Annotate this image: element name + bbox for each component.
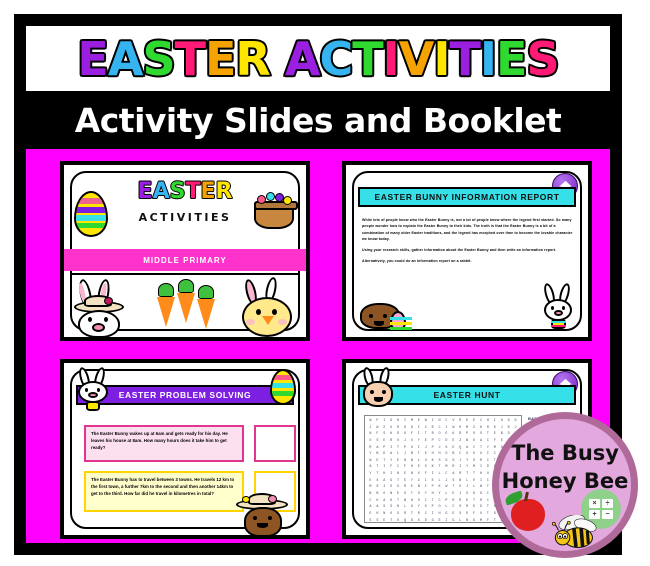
word-search-letter: S [457, 504, 464, 511]
word-search-letter: X [422, 504, 429, 511]
word-search-letter: A [388, 451, 395, 458]
word-search-letter: W [443, 484, 450, 491]
word-search-letter: T [374, 471, 381, 478]
word-search-letter: F [471, 511, 478, 518]
word-search-letter: V [450, 418, 457, 425]
word-search-letter: C [450, 504, 457, 511]
title-letter: E [496, 32, 526, 86]
word-search-letter: R [464, 504, 471, 511]
word-search-letter: E [450, 491, 457, 498]
word-search-letter: C [443, 418, 450, 425]
word-search-letter: I [381, 418, 388, 425]
calculator-key: × [589, 499, 600, 508]
word-search-letter: Y [415, 504, 422, 511]
word-search-letter: R [484, 425, 491, 432]
word-search-letter: T [471, 471, 478, 478]
word-search-letter: E [381, 518, 388, 523]
word-search-letter: O [471, 438, 478, 445]
word-search-letter: G [471, 491, 478, 498]
word-search-letter: W [478, 484, 485, 491]
word-search-letter: G [450, 458, 457, 465]
word-search-letter: T [395, 478, 402, 485]
title-letter: S [526, 32, 558, 86]
brand-logo-badge: The Busy Honey Bee ×÷+− [492, 412, 638, 558]
word-search-letter: H [429, 451, 436, 458]
word-search-letter: G [512, 418, 519, 425]
word-search-letter: C [367, 498, 374, 505]
word-search-letter: U [484, 471, 491, 478]
word-search-letter: B [450, 451, 457, 458]
word-search-letter: O [443, 451, 450, 458]
word-search-letter: G [402, 425, 409, 432]
word-search-letter: C [484, 478, 491, 485]
word-search-letter: I [415, 425, 422, 432]
slide-preview-cover[interactable]: EASTER ACTIVITIES MIDDLE PRIMARY [60, 161, 310, 341]
word-search-letter: E [464, 418, 471, 425]
word-search-letter: P [402, 445, 409, 452]
title-letter: V [399, 32, 434, 86]
word-search-letter: I [491, 418, 498, 425]
word-search-letter: L [464, 478, 471, 485]
word-search-letter: I [388, 445, 395, 452]
word-search-letter: C [422, 425, 429, 432]
word-search-letter: N [464, 518, 471, 523]
word-search-letter: K [491, 425, 498, 432]
word-search-letter: T [395, 445, 402, 452]
word-search-letter: Q [402, 518, 409, 523]
word-search-letter: U [388, 425, 395, 432]
word-search-letter: D [464, 511, 471, 518]
title-letter: T [175, 32, 205, 86]
word-search-letter: M [464, 425, 471, 432]
word-search-letter: S [478, 431, 485, 438]
word-search-letter: E [450, 511, 457, 518]
word-search-letter: O [402, 491, 409, 498]
word-search-letter: T [484, 484, 491, 491]
slide-header-label: EASTER HUNT [433, 390, 500, 400]
word-search-letter: U [408, 445, 415, 452]
word-search-letter: A [374, 445, 381, 452]
title-letter: I [433, 32, 449, 86]
word-search-letter: Y [415, 438, 422, 445]
word-search-letter: O [436, 431, 443, 438]
easter-egg-icon [390, 311, 406, 331]
word-search-letter: F [374, 418, 381, 425]
word-search-letter: B [498, 431, 505, 438]
calculator-key: − [602, 510, 613, 519]
word-search-letter: A [478, 438, 485, 445]
word-search-letter: C [422, 511, 429, 518]
title-letter: E [77, 32, 107, 86]
word-search-letter: F [402, 464, 409, 471]
word-search-letter: S [381, 431, 388, 438]
word-search-letter: O [415, 491, 422, 498]
word-search-letter: T [478, 445, 485, 452]
word-search-letter: N [436, 418, 443, 425]
slide-header-bar: EASTER BUNNY INFORMATION REPORT [358, 187, 576, 207]
poster-subtitle: Activity Slides and Booklet [75, 101, 562, 140]
word-search-letter: I [381, 464, 388, 471]
word-search-letter: C [471, 445, 478, 452]
word-search-letter: E [429, 478, 436, 485]
title-letter: A [285, 32, 320, 86]
word-search-letter: E [374, 458, 381, 465]
word-search-letter: O [464, 451, 471, 458]
word-search-letter: W [367, 418, 374, 425]
word-search-letter: C [478, 418, 485, 425]
title-letter: I [480, 32, 496, 86]
slide-header-label: EASTER PROBLEM SOLVING [119, 390, 252, 400]
word-search-letter: N [408, 471, 415, 478]
word-search-letter: R [429, 431, 436, 438]
word-search-letter: R [457, 471, 464, 478]
report-paragraph: Alternatively, you could do an informati… [362, 258, 574, 264]
word-search-letter: F [408, 431, 415, 438]
word-search-letter: L [436, 471, 443, 478]
word-search-letter: X [471, 451, 478, 458]
word-search-letter: N [402, 458, 409, 465]
child-with-easter-bonnet-icon [234, 493, 290, 535]
word-search-letter: S [395, 511, 402, 518]
word-search-letter: L [402, 504, 409, 511]
easter-egg-icon [270, 369, 296, 405]
word-search-letter: S [374, 438, 381, 445]
word-search-letter: A [367, 464, 374, 471]
title-letter: E [205, 32, 235, 86]
word-search-letter: H [388, 431, 395, 438]
word-search-letter: D [443, 438, 450, 445]
word-search-letter: G [408, 504, 415, 511]
word-search-letter: E [395, 458, 402, 465]
word-search-letter: P [443, 498, 450, 505]
word-search-letter: R [457, 418, 464, 425]
word-search-letter: Y [484, 445, 491, 452]
word-search-letter: Y [367, 471, 374, 478]
word-search-letter: C [443, 471, 450, 478]
word-search-letter: M [408, 418, 415, 425]
word-search-letter: E [367, 511, 374, 518]
word-search-letter: P [429, 438, 436, 445]
word-search-letter: P [464, 431, 471, 438]
word-search-letter: X [415, 471, 422, 478]
word-search-letter: S [367, 518, 374, 523]
word-search-letter: X [402, 431, 409, 438]
word-search-letter: W [374, 425, 381, 432]
word-search-letter: N [457, 478, 464, 485]
word-search-letter: T [464, 471, 471, 478]
word-search-letter: P [381, 445, 388, 452]
title-letter: A [153, 179, 170, 204]
word-search-letter: S [464, 491, 471, 498]
word-search-letter: I [415, 445, 422, 452]
word-search-letter: T [395, 498, 402, 505]
word-search-letter: N [388, 491, 395, 498]
problem-text: The Easter Bunny has to travel between 3… [91, 477, 234, 496]
word-search-letter: I [402, 418, 409, 425]
word-search-letter: R [402, 484, 409, 491]
word-search-letter: U [478, 451, 485, 458]
word-search-letter: X [422, 464, 429, 471]
report-body: While lots of people know who the Easter… [362, 217, 574, 270]
word-search-letter: I [415, 431, 422, 438]
word-search-letter: U [408, 438, 415, 445]
word-search-letter: O [388, 511, 395, 518]
word-search-letter: O [436, 504, 443, 511]
word-search-letter: G [443, 511, 450, 518]
word-search-letter: H [436, 451, 443, 458]
word-search-letter: J [443, 478, 450, 485]
word-search-letter: R [367, 445, 374, 452]
word-search-letter: L [443, 504, 450, 511]
word-search-letter: E [422, 438, 429, 445]
word-search-letter: A [381, 478, 388, 485]
word-search-letter: B [408, 451, 415, 458]
title-letter: T [449, 32, 479, 86]
word-search-letter: H [484, 418, 491, 425]
word-search-letter: E [408, 484, 415, 491]
word-search-letter: I [429, 511, 436, 518]
word-search-letter: E [422, 451, 429, 458]
word-search-letter: I [457, 464, 464, 471]
word-search-letter: R [505, 425, 512, 432]
word-search-letter: B [374, 451, 381, 458]
word-search-letter: E [471, 418, 478, 425]
bee-icon [551, 515, 603, 549]
word-search-letter: K [478, 425, 485, 432]
slide-preview-information-report[interactable]: EASTER BUNNY INFORMATION REPORT While lo… [342, 161, 592, 341]
word-search-letter: U [422, 458, 429, 465]
word-search-letter: F [388, 464, 395, 471]
page-title: EASTER ACTIVITIES [77, 32, 558, 86]
word-search-letter: T [422, 431, 429, 438]
problem-text: The Easter Bunny wakes up at 6am and get… [91, 431, 228, 450]
word-search-letter: W [450, 425, 457, 432]
word-search-letter: H [408, 464, 415, 471]
word-search-letter: A [450, 471, 457, 478]
word-search-letter: Y [388, 458, 395, 465]
word-search-letter: T [415, 451, 422, 458]
title-letter: A [108, 32, 143, 86]
cover-title-area: EASTER ACTIVITIES [72, 173, 298, 253]
problem-answer-box[interactable] [254, 425, 296, 462]
word-search-letter: E [450, 438, 457, 445]
word-search-letter: R [429, 425, 436, 432]
word-search-letter: C [484, 491, 491, 498]
word-search-letter: T [484, 511, 491, 518]
word-search-letter: E [464, 498, 471, 505]
word-search-letter: H [374, 498, 381, 505]
word-search-letter: K [436, 484, 443, 491]
word-search-letter: I [484, 451, 491, 458]
word-search-letter: I [422, 478, 429, 485]
word-search-letter: F [491, 438, 498, 445]
word-search-letter: J [402, 438, 409, 445]
word-search-letter: L [471, 484, 478, 491]
word-search-letter: M [491, 445, 498, 452]
word-search-letter: O [395, 518, 402, 523]
word-search-letter: C [484, 438, 491, 445]
word-search-letter: Y [464, 458, 471, 465]
problem-card: The Easter Bunny has to travel between 3… [84, 471, 244, 512]
word-search-letter: R [450, 498, 457, 505]
word-search-letter: G [498, 418, 505, 425]
word-search-letter: J [498, 425, 505, 432]
calculator-key: ÷ [602, 499, 613, 508]
word-search-letter: J [457, 458, 464, 465]
bunny-icon [74, 367, 116, 417]
word-search-letter: T [388, 518, 395, 523]
word-search-letter: S [395, 484, 402, 491]
word-search-letter: E [415, 464, 422, 471]
word-search-letter: L [436, 478, 443, 485]
cover-level-label: MIDDLE PRIMARY [143, 256, 226, 265]
word-search-letter: Q [457, 445, 464, 452]
word-search-letter: S [381, 504, 388, 511]
word-search-letter: C [395, 464, 402, 471]
word-search-letter: X [415, 518, 422, 523]
word-search-letter: O [367, 438, 374, 445]
title-letter: C [319, 32, 352, 86]
word-search-letter: J [402, 451, 409, 458]
word-search-letter: R [457, 498, 464, 505]
word-search-letter: D [381, 451, 388, 458]
word-search-letter: F [484, 518, 491, 523]
word-search-letter: U [478, 511, 485, 518]
word-search-letter: I [422, 484, 429, 491]
title-letter: I [383, 32, 399, 86]
poster-title-band: EASTER ACTIVITIES [26, 26, 610, 91]
word-search-letter: G [408, 425, 415, 432]
brand-name-line2: Honey Bee [499, 469, 631, 493]
word-search-letter: I [478, 464, 485, 471]
word-search-letter: G [478, 491, 485, 498]
word-search-letter: H [457, 425, 464, 432]
word-search-letter: E [367, 478, 374, 485]
word-search-letter: O [388, 484, 395, 491]
word-search-letter: E [395, 491, 402, 498]
word-search-letter: L [457, 518, 464, 523]
word-search-letter: R [402, 511, 409, 518]
slide-preview-problem-solving[interactable]: EASTER PROBLEM SOLVING The Easter Bunny … [60, 359, 310, 539]
word-search-letter: R [450, 464, 457, 471]
word-search-letter: D [471, 504, 478, 511]
word-search-letter: I [422, 498, 429, 505]
word-search-letter: F [422, 471, 429, 478]
word-search-letter: B [367, 491, 374, 498]
word-search-letter: Z [457, 438, 464, 445]
word-search-letter: N [381, 511, 388, 518]
word-search-letter: T [381, 458, 388, 465]
word-search-letter: S [443, 445, 450, 452]
word-search-letter: L [415, 458, 422, 465]
word-search-letter: Y [464, 464, 471, 471]
word-search-letter: R [415, 511, 422, 518]
word-search-letter: A [367, 504, 374, 511]
title-letter: E [200, 179, 215, 204]
word-search-letter: F [374, 431, 381, 438]
word-search-letter: Y [408, 478, 415, 485]
word-search-letter: K [388, 498, 395, 505]
title-letter: T [352, 32, 382, 86]
word-search-letter: A [374, 504, 381, 511]
word-search-letter: P [429, 445, 436, 452]
word-search-letter: I [443, 518, 450, 523]
word-search-letter: D [422, 518, 429, 523]
title-letter: T [185, 179, 200, 204]
word-search-letter: D [408, 518, 415, 523]
word-search-letter: E [402, 478, 409, 485]
word-search-letter: L [395, 451, 402, 458]
word-search-letter: C [436, 498, 443, 505]
word-search-letter: R [478, 458, 485, 465]
word-search-letter: I [381, 484, 388, 491]
brand-name-line1: The Busy [499, 441, 631, 465]
word-search-letter: D [484, 464, 491, 471]
word-search-letter: G [471, 518, 478, 523]
report-paragraph: While lots of people know who the Easter… [362, 217, 574, 242]
word-search-letter: H [436, 511, 443, 518]
cover-divider [72, 273, 298, 275]
word-search-letter: G [443, 458, 450, 465]
title-letter: R [235, 32, 269, 86]
word-search-letter: I [429, 418, 436, 425]
word-search-letter: I [443, 425, 450, 432]
word-search-letter: T [484, 504, 491, 511]
word-search-letter: N [395, 471, 402, 478]
word-search-letter: M [443, 464, 450, 471]
word-search-letter: E [415, 418, 422, 425]
word-search-letter: G [388, 418, 395, 425]
word-search-letter: E [402, 471, 409, 478]
word-search-letter: G [429, 518, 436, 523]
word-search-letter: R [388, 438, 395, 445]
word-search-letter: J [436, 445, 443, 452]
word-search-letter: D [395, 431, 402, 438]
bunny-child-icon [358, 367, 402, 415]
cover-subtitle: ACTIVITIES [139, 211, 232, 224]
word-search-letter: O [395, 438, 402, 445]
poster-subtitle-band: Activity Slides and Booklet [26, 91, 610, 149]
word-search-letter: O [457, 484, 464, 491]
word-search-letter: H [429, 491, 436, 498]
word-search-letter: T [374, 464, 381, 471]
title-letter: R [216, 179, 233, 204]
word-search-letter: R [478, 498, 485, 505]
word-search-letter: I [484, 458, 491, 465]
word-search-letter: B [415, 484, 422, 491]
word-search-letter: V [471, 478, 478, 485]
word-search-letter: H [395, 418, 402, 425]
slide-header-label: EASTER BUNNY INFORMATION REPORT [375, 192, 560, 202]
word-search-letter: S [450, 478, 457, 485]
apple-icon [511, 499, 545, 531]
cover-level-band: MIDDLE PRIMARY [64, 249, 306, 271]
cover-title: EASTER [138, 179, 233, 204]
word-search-letter: J [464, 484, 471, 491]
rabbit-icon [540, 283, 576, 329]
word-search-letter: I [429, 471, 436, 478]
title-letter [270, 32, 285, 86]
word-search-letter: M [367, 484, 374, 491]
word-search-letter: H [381, 471, 388, 478]
word-search-letter: I [478, 478, 485, 485]
word-search-letter: T [429, 498, 436, 505]
word-search-letter: B [374, 491, 381, 498]
word-search-letter: R [457, 431, 464, 438]
title-letter: S [170, 179, 186, 204]
word-search-letter: G [505, 418, 512, 425]
word-search-letter: K [429, 458, 436, 465]
